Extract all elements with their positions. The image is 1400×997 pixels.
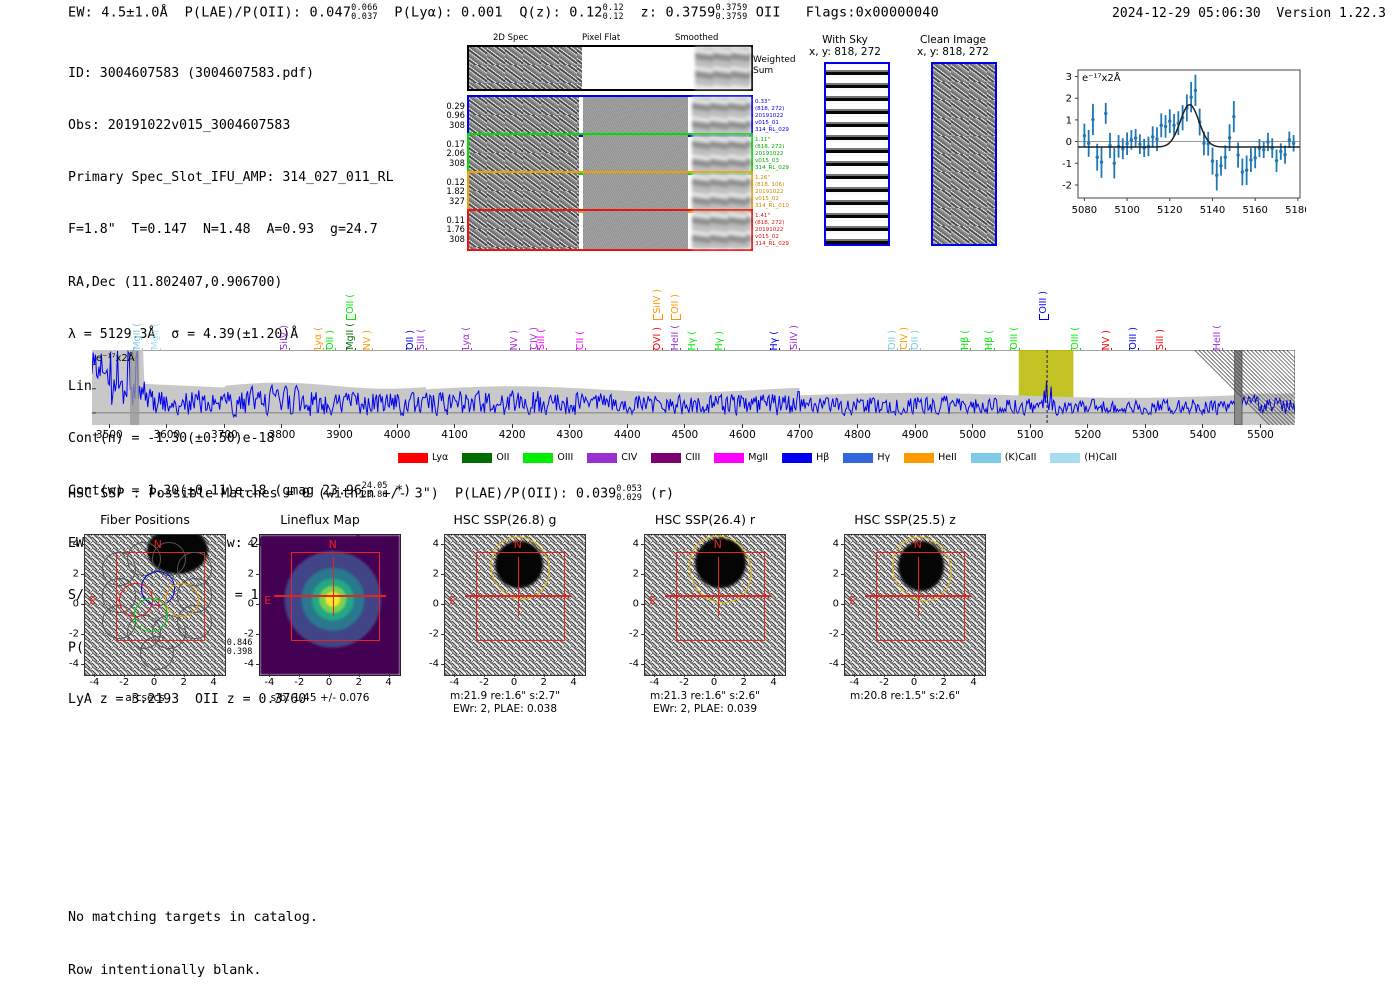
cutout-ytick xyxy=(841,574,844,575)
legend-label: Hβ xyxy=(816,452,829,463)
amp-right-meta: 1.41" (818, 272) 20191022 v015_02 314_RL… xyxy=(755,213,789,248)
emission-line-mark: OVI ) xyxy=(652,327,663,350)
cutout-ytick xyxy=(641,664,644,665)
emission-line-mark: MgII ( xyxy=(345,323,356,350)
header-plya-label: P(Lyα): xyxy=(394,5,452,21)
info-line-primary-spec: Primary Spec_Slot_IFU_AMP: 314_027_011_R… xyxy=(68,169,411,186)
crosshair-v xyxy=(518,557,519,616)
spectrum-xtick-label: 3600 xyxy=(153,429,180,441)
legend-item: MgII xyxy=(714,452,768,463)
cutout-ytick-label: 2 xyxy=(248,569,254,580)
amp-row: 0.17 2.06 308 1.11" (818, 272) 20191022 … xyxy=(467,133,753,175)
svg-text:0: 0 xyxy=(1066,137,1072,148)
spectrum-xtick xyxy=(281,424,282,428)
cutout-xtick xyxy=(359,674,360,677)
amp-smoothed-image xyxy=(692,135,751,173)
cutout-ytick xyxy=(841,634,844,635)
cutout-ytick xyxy=(841,664,844,665)
spectrum-xtick xyxy=(742,424,743,428)
spectrum-xtick-label: 3500 xyxy=(96,429,123,441)
cutout-ytick xyxy=(441,604,444,605)
emission-line-mark: HeII ( xyxy=(1212,325,1223,350)
spectrum-xtick xyxy=(915,424,916,428)
svg-text:-1: -1 xyxy=(1062,159,1072,170)
crosshair-v xyxy=(918,557,919,616)
legend-swatch xyxy=(462,453,492,463)
cutout-image: N E xyxy=(259,534,401,676)
spectrum-xtick-label: 3800 xyxy=(269,429,296,441)
legend-label: (K)CaII xyxy=(1005,452,1037,463)
compass-e: E xyxy=(649,594,656,607)
legend-item: HeII xyxy=(904,452,957,463)
cutout-ytick-label: 0 xyxy=(633,599,639,610)
hsc-ssp-summary-line: HSC-SSP : Possible Matches = 0 (within +… xyxy=(68,485,674,502)
cutout-ytick-label: -4 xyxy=(629,658,639,669)
cutout-title: HSC SSP(25.5) z xyxy=(820,512,990,527)
compass-n: N xyxy=(914,538,922,551)
cutout-xtick xyxy=(454,674,455,677)
cutout-ytick xyxy=(81,664,84,665)
amp-2dspec-image xyxy=(469,97,579,135)
spectrum-xtick-label: 4000 xyxy=(384,429,411,441)
cutout-ytick xyxy=(256,634,259,635)
cutout-ytick xyxy=(441,634,444,635)
svg-text:2: 2 xyxy=(1066,94,1072,105)
cutout-xtick xyxy=(714,674,715,677)
emission-line-mark: Lyα ( xyxy=(461,327,472,350)
cutout-fiber-positions: Fiber Positions N E + arcsecs -4-4-2-200… xyxy=(60,512,230,712)
amp-pixelflat-image xyxy=(583,173,687,211)
legend-swatch xyxy=(971,453,1001,463)
amp-row: 0.12 1.82 327 1.26" (818, 106) 20191022 … xyxy=(467,171,753,213)
cutout-xtick-label: 0 xyxy=(511,677,517,688)
cutout-xtick xyxy=(684,674,685,677)
emission-line-mark: SiII ( xyxy=(416,329,427,350)
spectrum-xtick xyxy=(1202,424,1203,428)
info-line-obs: Obs: 20191022v015_3004607583 xyxy=(68,117,411,134)
legend-item: Hγ xyxy=(843,452,890,463)
emission-line-mark: Hβ ( xyxy=(984,330,995,350)
cutout-xtick-label: 2 xyxy=(541,677,547,688)
emission-line-mark: SiIV ) xyxy=(789,325,800,350)
header-qz-value: 0.12 xyxy=(569,5,602,21)
spectrum-xtick-label: 4600 xyxy=(729,429,756,441)
spectrum-xtick-label: 4500 xyxy=(671,429,698,441)
cutout-xtick xyxy=(299,674,300,677)
spectrum-xtick-label: 4900 xyxy=(902,429,929,441)
cutout-xtick xyxy=(544,674,545,677)
cutout-ytick xyxy=(256,664,259,665)
amp-left-stats: 0.12 1.82 327 xyxy=(446,178,465,206)
emission-line-mark: OIII ) xyxy=(1128,327,1139,350)
amp-right-meta: 0.33" (818, 272) 20191022 v015_01 314_RL… xyxy=(755,99,789,134)
cutout-xtick-label: 4 xyxy=(210,677,216,688)
spectrum-xtick xyxy=(1087,424,1088,428)
cutout-ytick xyxy=(81,604,84,605)
legend-swatch xyxy=(904,453,934,463)
footer-message: No matching targets in catalog. Row inte… xyxy=(68,874,318,997)
cutout-ytick-label: 0 xyxy=(833,599,839,610)
legend-label: (H)CaII xyxy=(1084,452,1117,463)
cutout-ytick xyxy=(641,634,644,635)
cutout-xtick-label: -2 xyxy=(679,677,689,688)
cutout-xtick xyxy=(914,674,915,677)
spectrum-xtick xyxy=(454,424,455,428)
legend-label: OII xyxy=(496,452,509,463)
legend-item: CIV xyxy=(587,452,637,463)
amp-left-stats: 0.17 2.06 308 xyxy=(446,140,465,168)
cutout-ytick xyxy=(256,604,259,605)
emission-line-mark: CIV ) xyxy=(899,327,910,350)
emission-line-mark: NV ) xyxy=(509,330,520,350)
emission-line-legend: LyαOIIOIIICIVCIIIMgIIHβHγHeII(K)CaII(H)C… xyxy=(398,452,1131,463)
legend-swatch xyxy=(523,453,553,463)
cutout-ytick-label: -2 xyxy=(629,628,639,639)
cutout-ytick-label: 4 xyxy=(633,539,639,550)
svg-text:-2: -2 xyxy=(1062,180,1072,191)
crosshair-h xyxy=(465,595,571,596)
spectrum-xtick-label: 5400 xyxy=(1190,429,1217,441)
weighted-sum-pixelflat-image xyxy=(582,47,695,89)
cutout-ytick xyxy=(641,574,644,575)
legend-label: Hγ xyxy=(877,452,890,463)
cutout-xtick-label: -4 xyxy=(264,677,274,688)
cutout-xtick-label: 4 xyxy=(970,677,976,688)
spectrum-xtick-label: 4400 xyxy=(614,429,641,441)
info-line-id: ID: 3004607583 (3004607583.pdf) xyxy=(68,65,411,82)
amp-pixelflat-image xyxy=(583,211,687,249)
cutout-caption-1: m:20.8 re:1.5" s:2.6" xyxy=(786,690,1024,703)
cutout-ytick xyxy=(441,574,444,575)
emission-line-mark: SiIV ) xyxy=(279,325,290,350)
spectrum-xtick-label: 4700 xyxy=(787,429,814,441)
spectrum-xtick xyxy=(397,424,398,428)
crosshair-v xyxy=(718,557,719,616)
cutout-ytick xyxy=(841,544,844,545)
spectrum-xtick xyxy=(512,424,513,428)
spectrum-xtick-label: 5500 xyxy=(1247,429,1274,441)
legend-swatch xyxy=(587,453,617,463)
cutout-ytick-label: -4 xyxy=(69,658,79,669)
compass-n: N xyxy=(514,538,522,551)
header-summary-line: EW: 4.5±1.0Å P(LAE)/P(OII): 0.0470.0660.… xyxy=(68,4,939,21)
spectrum-xtick xyxy=(684,424,685,428)
cutout-hsc-g: HSC SSP(26.8) g N E m:21.9 re:1.6" s:2.7… xyxy=(420,512,590,722)
spectrum-xtick xyxy=(799,424,800,428)
emission-line-mark: NV ) xyxy=(362,330,373,350)
emission-line-mark: OIII ) xyxy=(1038,291,1049,314)
emission-line-mark: MgII ( xyxy=(132,323,143,350)
emission-line-mark: SiIV ) xyxy=(652,289,663,314)
cutout-title: HSC SSP(26.8) g xyxy=(420,512,590,527)
cutout-ytick-label: 0 xyxy=(433,599,439,610)
spectrum-xtick xyxy=(166,424,167,428)
cutout-ytick-label: 4 xyxy=(73,539,79,550)
header-z-bounds: 0.37590.3759 xyxy=(716,4,748,21)
amp-smoothed-image xyxy=(692,97,751,135)
emission-line-bracket xyxy=(346,314,356,320)
with-sky-subtitle: x, y: 818, 272 xyxy=(800,46,890,58)
amp-2dspec-image xyxy=(469,211,579,249)
cutout-ytick xyxy=(441,544,444,545)
legend-item: Lyα xyxy=(398,452,448,463)
emission-line-mark: SiII ( xyxy=(536,329,547,350)
crosshair-h xyxy=(274,595,386,596)
spectrum-xtick-label: 4300 xyxy=(556,429,583,441)
header-qz-bounds: 0.120.12 xyxy=(603,4,624,21)
legend-swatch xyxy=(782,453,812,463)
amp-left-stats: 0.11 1.76 308 xyxy=(446,216,465,244)
cutout-ytick xyxy=(841,604,844,605)
emission-line-mark: OIII ( xyxy=(1070,327,1081,350)
compass-e: E xyxy=(849,594,856,607)
legend-swatch xyxy=(398,453,428,463)
cutout-image: N E xyxy=(444,534,586,676)
spectrum-xtick xyxy=(224,424,225,428)
amp-2dspec-image xyxy=(469,173,579,211)
cutout-image: N E xyxy=(644,534,786,676)
amp-left-stats: 0.29 0.96 308 xyxy=(446,102,465,130)
cutout-xtick xyxy=(514,674,515,677)
cutout-image: N E + xyxy=(84,534,226,676)
cutout-xtick xyxy=(154,674,155,677)
spectrum-xtick-label: 3700 xyxy=(211,429,238,441)
emission-line-mark: MgII ( xyxy=(150,323,161,350)
svg-text:3: 3 xyxy=(1066,72,1072,83)
cutout-xtick xyxy=(94,674,95,677)
weighted-sum-label: Weighted Sum xyxy=(753,55,796,77)
svg-text:5160: 5160 xyxy=(1242,205,1267,216)
full-spectrum-chart: 024e⁻¹⁷x2Å xyxy=(92,350,1295,425)
legend-label: Lyα xyxy=(432,452,448,463)
info-line-seeing: F=1.8" T=0.147 N=1.48 A=0.93 g=24.7 xyxy=(68,221,411,238)
emission-line-mark: OII ( xyxy=(345,294,356,314)
full-spectrum-xaxis: 3500360037003800390040004100420043004400… xyxy=(92,427,1295,443)
amp-pixelflat-image xyxy=(583,135,687,173)
amp-smoothed-image xyxy=(692,173,751,211)
cutout-ytick-label: -4 xyxy=(429,658,439,669)
footer-line-1: No matching targets in catalog. xyxy=(68,909,318,927)
cutout-xtick-label: 2 xyxy=(356,677,362,688)
cutout-ytick xyxy=(641,604,644,605)
cutout-xtick xyxy=(654,674,655,677)
footer-line-2: Row intentionally blank. xyxy=(68,962,318,980)
cutout-ytick-label: 2 xyxy=(433,569,439,580)
center-cross: + xyxy=(154,598,164,612)
svg-text:5100: 5100 xyxy=(1114,205,1139,216)
cutout-xtick xyxy=(884,674,885,677)
legend-swatch xyxy=(651,453,681,463)
cutout-xtick xyxy=(854,674,855,677)
cutout-ytick-label: 2 xyxy=(73,569,79,580)
header-z-value: 0.3759 xyxy=(666,5,716,21)
cutout-xtick xyxy=(184,674,185,677)
spectrum-xtick xyxy=(1145,424,1146,428)
legend-item: CIII xyxy=(651,452,700,463)
cutout-xtick xyxy=(974,674,975,677)
spectrum-xtick-label: 4200 xyxy=(499,429,526,441)
crosshair-h xyxy=(865,595,971,596)
cutout-ytick xyxy=(256,544,259,545)
cutout-xtick-label: -2 xyxy=(879,677,889,688)
svg-text:5080: 5080 xyxy=(1072,205,1097,216)
compass-e: E xyxy=(449,594,456,607)
with-sky-title: With Sky xyxy=(800,34,890,46)
compass-n: N xyxy=(154,538,162,551)
cutout-ytick xyxy=(81,574,84,575)
header-flags: Flags:0x00000040 xyxy=(806,5,939,21)
header-z-type: OII xyxy=(756,5,781,21)
emission-line-mark: OII ) xyxy=(670,294,681,314)
spectrum-xtick-label: 4800 xyxy=(844,429,871,441)
cutout-xtick-label: 0 xyxy=(911,677,917,688)
emission-line-mark: Lyα ( xyxy=(313,327,324,350)
cutout-xtick xyxy=(329,674,330,677)
amp-row: 0.29 0.96 308 0.33" (818, 272) 20191022 … xyxy=(467,95,753,137)
cutout-xtick-label: -4 xyxy=(849,677,859,688)
cutout-xtick-label: -4 xyxy=(449,677,459,688)
legend-swatch xyxy=(843,453,873,463)
cutout-xtick xyxy=(389,674,390,677)
cutout-ytick xyxy=(81,544,84,545)
cutout-hsc-z: HSC SSP(25.5) z N E m:20.8 re:1.5" s:2.6… xyxy=(820,512,990,722)
spec2d-panel: 2D Spec Pixel Flat Smoothed Weighted Sum… xyxy=(435,33,765,255)
legend-label: CIII xyxy=(685,452,700,463)
emission-line-mark: NV ) xyxy=(1101,330,1112,350)
cutout-xtick xyxy=(574,674,575,677)
cutout-title: HSC SSP(26.4) r xyxy=(620,512,790,527)
cutout-ytick-label: -2 xyxy=(69,628,79,639)
spectrum-xtick xyxy=(569,424,570,428)
cutout-ytick-label: 4 xyxy=(433,539,439,550)
svg-text:1: 1 xyxy=(1066,115,1072,126)
line-profile-chart: -2-10123508051005120514051605180e⁻¹⁷x2Å xyxy=(1038,58,1306,233)
header-qz-label: Q(z): xyxy=(519,5,561,21)
legend-label: CIV xyxy=(621,452,637,463)
amp-right-meta: 1.11" (818, 272) 20191022 v015_03 314_RL… xyxy=(755,137,789,172)
amp-2dspec-image xyxy=(469,135,579,173)
spectrum-xtick xyxy=(1260,424,1261,428)
clean-image-image xyxy=(931,62,997,246)
spectrum-xtick xyxy=(109,424,110,428)
spectrum-xtick-label: 5000 xyxy=(959,429,986,441)
cutout-xtick-label: 0 xyxy=(711,677,717,688)
amp-row: 0.11 1.76 308 1.41" (818, 272) 20191022 … xyxy=(467,209,753,251)
cutout-title: Lineflux Map xyxy=(235,512,405,527)
cutout-xtick-label: 2 xyxy=(741,677,747,688)
full-spectrum-svg: 024e⁻¹⁷x2Å xyxy=(92,350,1295,425)
legend-label: HeII xyxy=(938,452,957,463)
compass-n: N xyxy=(714,538,722,551)
with-sky-image xyxy=(824,62,890,246)
cutout-xtick-label: -4 xyxy=(649,677,659,688)
cutout-xtick xyxy=(744,674,745,677)
cutout-xtick xyxy=(484,674,485,677)
cutout-ytick-label: 4 xyxy=(833,539,839,550)
cutout-xtick-label: 4 xyxy=(385,677,391,688)
legend-item: OIII xyxy=(523,452,573,463)
emission-line-mark: SiII ) xyxy=(1155,329,1166,350)
amp-pixelflat-image xyxy=(583,97,687,135)
cutout-xtick-label: -2 xyxy=(479,677,489,688)
header-plya-value: 0.001 xyxy=(461,5,503,21)
col-header-smoothed: Smoothed xyxy=(675,33,718,43)
cutout-ytick-label: -4 xyxy=(244,658,254,669)
cutout-ytick xyxy=(256,574,259,575)
emission-line-labels: MgII (MgII (SiIV )Lyα (OII )MgII (OII (N… xyxy=(92,272,1295,350)
emission-line-mark: Hβ ( xyxy=(960,330,971,350)
cutout-ytick-label: 2 xyxy=(833,569,839,580)
spectrum-xtick-label: 5100 xyxy=(1017,429,1044,441)
spectrum-xtick xyxy=(1030,424,1031,428)
cutout-xtick xyxy=(774,674,775,677)
emission-line-mark: HeII ( xyxy=(670,325,681,350)
spectrum-xtick-label: 5300 xyxy=(1132,429,1159,441)
clean-image-title: Clean Image xyxy=(905,34,1001,46)
cutout-ytick-label: 0 xyxy=(73,599,79,610)
col-header-pixelflat: Pixel Flat xyxy=(582,33,620,43)
cutout-xtick-label: -2 xyxy=(294,677,304,688)
legend-swatch xyxy=(714,453,744,463)
line-profile-svg: -2-10123508051005120514051605180e⁻¹⁷x2Å xyxy=(1038,58,1306,233)
header-plae-value: 0.047 xyxy=(310,5,352,21)
svg-text:5140: 5140 xyxy=(1200,205,1225,216)
compass-n: N xyxy=(329,538,337,551)
crosshair-h xyxy=(665,595,771,596)
cutout-xtick xyxy=(269,674,270,677)
header-plae-bounds: 0.0660.037 xyxy=(351,4,378,21)
emission-line-bracket xyxy=(671,314,681,320)
spectrum-xtick xyxy=(857,424,858,428)
amp-right-meta: 1.26" (818, 106) 20191022 v015_02 314_RL… xyxy=(755,175,789,210)
cutout-ytick xyxy=(641,544,644,545)
timestamp: 2024-12-29 05:06:30 xyxy=(1112,6,1261,21)
legend-label: MgII xyxy=(748,452,768,463)
cutout-ytick-label: -2 xyxy=(244,628,254,639)
emission-line-bracket xyxy=(1039,314,1049,320)
spectrum-xtick xyxy=(972,424,973,428)
fiber-orange xyxy=(165,583,199,617)
cutout-title: Fiber Positions xyxy=(60,512,230,527)
svg-text:5120: 5120 xyxy=(1157,205,1182,216)
svg-text:e⁻¹⁷x2Å: e⁻¹⁷x2Å xyxy=(96,351,135,364)
cutout-image: N E xyxy=(844,534,986,676)
legend-item: (K)CaII xyxy=(971,452,1037,463)
cutout-xtick-label: -2 xyxy=(119,677,129,688)
weighted-sum-row xyxy=(467,45,753,91)
header-z-label: z: xyxy=(641,5,658,21)
compass-e: E xyxy=(89,594,96,607)
amp-smoothed-image xyxy=(692,211,751,249)
header-timestamp-version: 2024-12-29 05:06:30 Version 1.22.3 xyxy=(1112,6,1386,21)
legend-label: OIII xyxy=(557,452,573,463)
col-header-2dspec: 2D Spec xyxy=(493,33,528,43)
cutout-xtick-label: -4 xyxy=(89,677,99,688)
cutout-xtick-label: 4 xyxy=(770,677,776,688)
cutout-ytick-label: -4 xyxy=(829,658,839,669)
spectrum-xtick xyxy=(627,424,628,428)
hsc-band: (r) xyxy=(650,487,674,502)
cutout-xtick-label: 2 xyxy=(181,677,187,688)
cutout-ytick xyxy=(81,634,84,635)
clean-image-subtitle: x, y: 818, 272 xyxy=(905,46,1001,58)
emission-line-bracket xyxy=(653,314,663,320)
cutout-ytick xyxy=(441,664,444,665)
legend-item: OII xyxy=(462,452,509,463)
spectrum-xtick-label: 5200 xyxy=(1074,429,1101,441)
hsc-line-text: HSC-SSP : Possible Matches = 0 (within +… xyxy=(68,487,616,502)
legend-item: (H)CaII xyxy=(1050,452,1117,463)
